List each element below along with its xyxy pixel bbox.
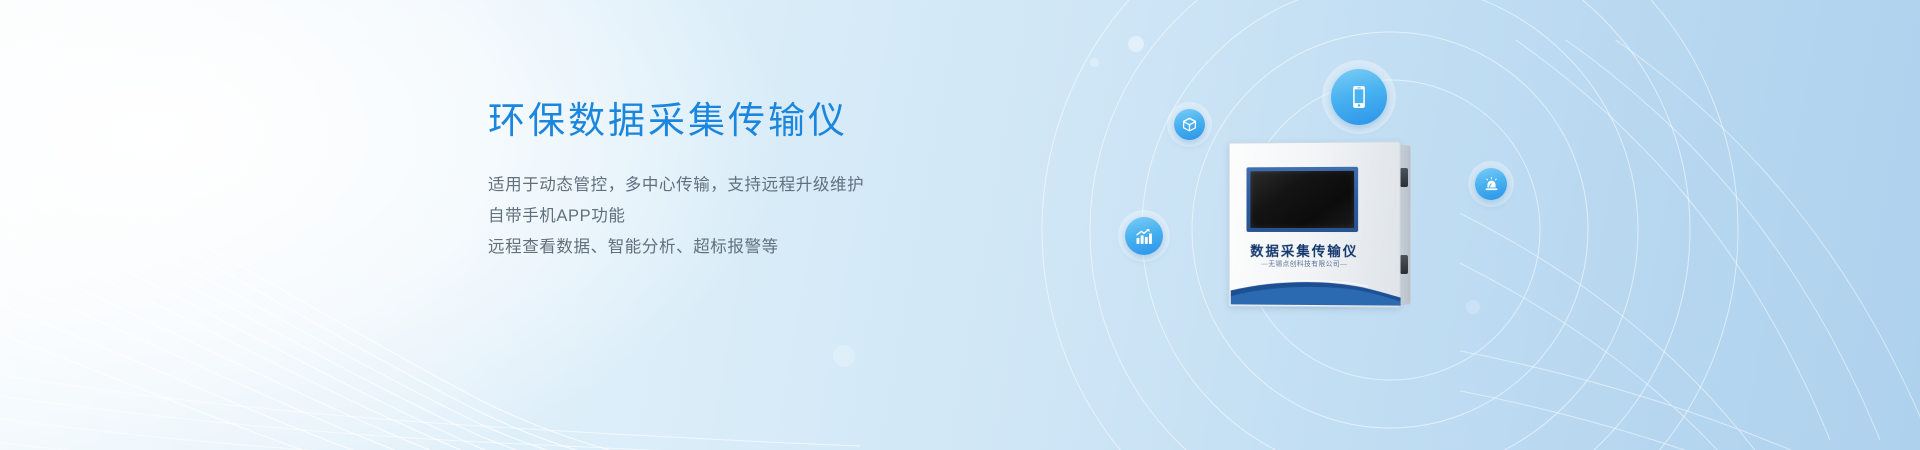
device-front-panel: 数据采集传输仪 —无锡点创科技有限公司— <box>1229 141 1401 307</box>
page-title: 环保数据采集传输仪 <box>488 98 1008 144</box>
subtitle-line-2: 自带手机APP功能 <box>488 201 1008 232</box>
banner-text-block: 环保数据采集传输仪 适用于动态管控，多中心传输，支持远程升级维护 自带手机APP… <box>488 98 1008 263</box>
smartphone-icon[interactable] <box>1331 69 1387 125</box>
device-company-name: —无锡点创科技有限公司— <box>1230 258 1380 268</box>
bokeh-bubble <box>1466 300 1480 314</box>
corner-arcs-decoration <box>1460 40 1920 450</box>
product-device-image: 数据采集传输仪 —无锡点创科技有限公司— <box>1228 142 1410 314</box>
subtitle-line-3: 远程查看数据、智能分析、超标报警等 <box>488 232 1008 263</box>
device-screen-frame <box>1246 167 1358 232</box>
subtitle-line-1: 适用于动态管控，多中心传输，支持远程升级维护 <box>488 170 1008 201</box>
subtitle-list: 适用于动态管控，多中心传输，支持远程升级维护 自带手机APP功能 远程查看数据、… <box>488 170 1008 263</box>
device-hinge-bottom <box>1400 255 1408 274</box>
cube-icon[interactable] <box>1174 109 1205 140</box>
device-wave-graphic <box>1231 277 1401 306</box>
bokeh-bubble <box>1128 36 1144 52</box>
bokeh-bubble <box>1090 58 1099 67</box>
device-screen <box>1250 171 1354 228</box>
bar-chart-icon[interactable] <box>1125 217 1163 255</box>
bokeh-bubble <box>833 345 855 367</box>
product-banner: 环保数据采集传输仪 适用于动态管控，多中心传输，支持远程升级维护 自带手机APP… <box>0 0 1920 450</box>
alarm-icon[interactable] <box>1475 168 1507 200</box>
device-hinge-top <box>1400 168 1408 187</box>
